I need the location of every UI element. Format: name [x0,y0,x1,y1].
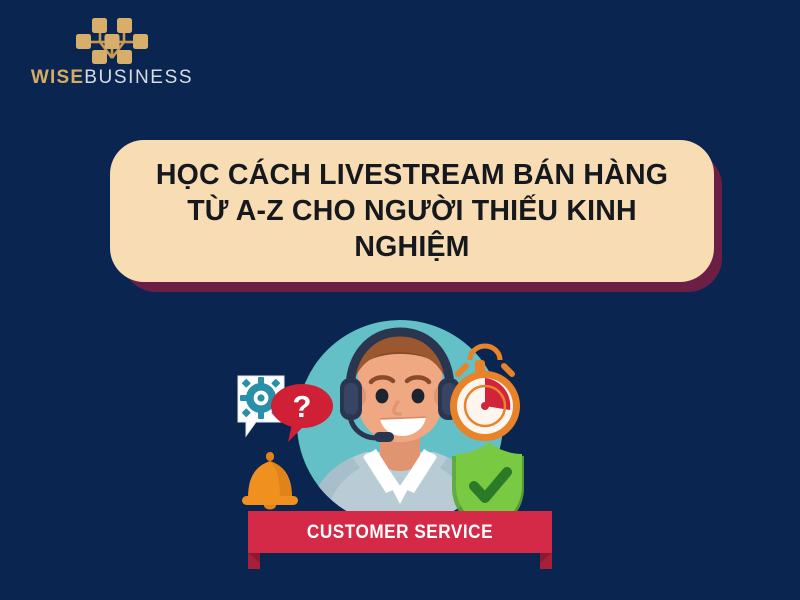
agent-eye-left [376,389,389,404]
agent-eye-right [412,389,425,404]
headset-mic-tip [374,432,394,442]
headset-cup-left-inner [344,383,358,415]
brand-name-secondary: BUSINESS [84,67,193,88]
brand-wordmark: WISEBUSINESS [22,68,202,88]
bell-icon [242,452,298,510]
page-title: HỌC CÁCH LIVESTREAM BÁN HÀNG TỪ A-Z CHO … [110,157,714,265]
customer-service-ribbon: CUSTOMER SERVICE [248,511,552,573]
brand-name-primary: WISE [31,67,84,88]
poster-canvas: WISEBUSINESS HỌC CÁCH LIVESTREAM BÁN HÀN… [0,0,800,600]
network-squares-icon [70,16,154,64]
svg-text:?: ? [293,389,312,424]
title-card: HỌC CÁCH LIVESTREAM BÁN HÀNG TỪ A-Z CHO … [110,140,714,282]
brand-logo[interactable]: WISEBUSINESS [22,16,202,92]
ribbon-label: CUSTOMER SERVICE [266,511,534,553]
